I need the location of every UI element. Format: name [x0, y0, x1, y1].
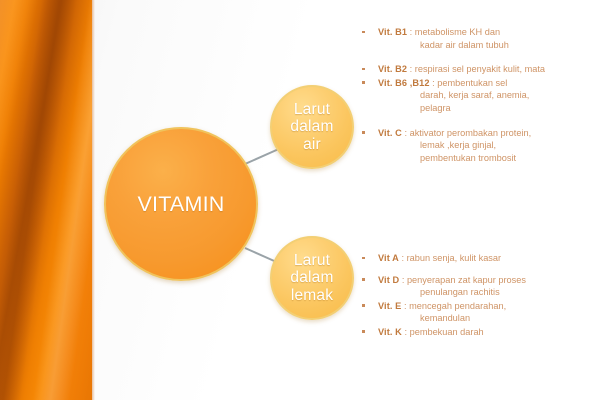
vitamin-description: mencegah pendarahan, — [409, 301, 506, 311]
vitamin-description-cont: kadar air dalam tubuh — [378, 39, 600, 52]
left-decorative-band — [0, 0, 92, 400]
list-item: Vit D : penyerapan zat kapur proses penu… — [358, 274, 600, 299]
node-larut-dalam-air-label: Larutdalamair — [290, 101, 333, 154]
node-vitamin-center[interactable]: VITAMIN — [104, 127, 258, 281]
vitamin-description: penyerapan zat kapur proses — [407, 275, 526, 285]
vitamin-description: respirasi sel penyakit kulit, mata — [415, 64, 545, 74]
bullet-icon — [362, 81, 365, 84]
vitamin-separator: : — [407, 64, 415, 74]
slide-canvas: VITAMIN Larutdalamair Larutdalamlemak Vi… — [0, 0, 600, 400]
vitamin-description-cont: darah, kerja saraf, anemia, — [378, 89, 600, 102]
list-item: Vit A : rabun senja, kulit kasar — [358, 252, 600, 265]
vitamin-description-cont: lemak ,kerja ginjal, — [378, 139, 600, 152]
water-soluble-list: Vit. B1 : metabolisme KH dan kadar air d… — [358, 26, 600, 166]
vitamin-separator: : — [401, 301, 409, 311]
bullet-icon — [362, 131, 365, 134]
vitamin-term: Vit. C — [378, 128, 402, 138]
list-item: Vit. K : pembekuan darah — [358, 326, 600, 339]
list-item: Vit. B6 ,B12 : pembentukan sel darah, ke… — [358, 77, 600, 115]
vitamin-description: pembekuan darah — [410, 327, 484, 337]
node-larut-dalam-lemak-label: Larutdalamlemak — [290, 252, 333, 305]
vitamin-separator: : — [402, 327, 410, 337]
vitamin-term: Vit D — [378, 275, 399, 285]
vitamin-description: metabolisme KH dan — [415, 27, 500, 37]
bullet-icon — [362, 31, 365, 34]
bullet-icon — [362, 278, 365, 281]
vitamin-term: Vit. E — [378, 301, 401, 311]
vitamin-term: Vit. K — [378, 327, 402, 337]
bullet-icon — [362, 257, 365, 260]
list-item: Vit. B1 : metabolisme KH dan kadar air d… — [358, 26, 600, 51]
list-item: Vit. C : aktivator perombakan protein, l… — [358, 127, 600, 165]
vitamin-description-cont: pembentukan trombosit — [378, 152, 600, 165]
list-item: Vit. E : mencegah pendarahan, kemandulan — [358, 300, 600, 325]
vitamin-term: Vit. B2 — [378, 64, 407, 74]
node-vitamin-label: VITAMIN — [137, 192, 224, 217]
vitamin-term: Vit A — [378, 253, 399, 263]
bullet-icon — [362, 68, 365, 71]
vitamin-description: aktivator perombakan protein, — [410, 128, 532, 138]
fat-soluble-list: Vit A : rabun senja, kulit kasar Vit D :… — [358, 252, 600, 341]
list-item: Vit. B2 : respirasi sel penyakit kulit, … — [358, 63, 600, 76]
vitamin-description-cont: penulangan rachitis — [378, 286, 600, 299]
vitamin-separator: : — [399, 275, 407, 285]
vitamin-separator: : — [402, 128, 410, 138]
vitamin-term: Vit. B1 — [378, 27, 407, 37]
text-column: Vit. B1 : metabolisme KH dan kadar air d… — [358, 0, 600, 400]
vitamin-term: Vit. B6 ,B12 — [378, 78, 430, 88]
vitamin-separator: : — [399, 253, 407, 263]
vitamin-description-cont: kemandulan — [378, 312, 600, 325]
node-larut-dalam-air[interactable]: Larutdalamair — [270, 85, 354, 169]
bullet-icon — [362, 304, 365, 307]
vitamin-description: rabun senja, kulit kasar — [407, 253, 501, 263]
node-larut-dalam-lemak[interactable]: Larutdalamlemak — [270, 236, 354, 320]
vitamin-description-cont: pelagra — [378, 102, 600, 115]
band-edge-highlight — [92, 0, 95, 400]
vitamin-description: pembentukan sel — [437, 78, 507, 88]
connector-line-water — [245, 148, 279, 164]
vitamin-separator: : — [407, 27, 415, 37]
bullet-icon — [362, 330, 365, 333]
